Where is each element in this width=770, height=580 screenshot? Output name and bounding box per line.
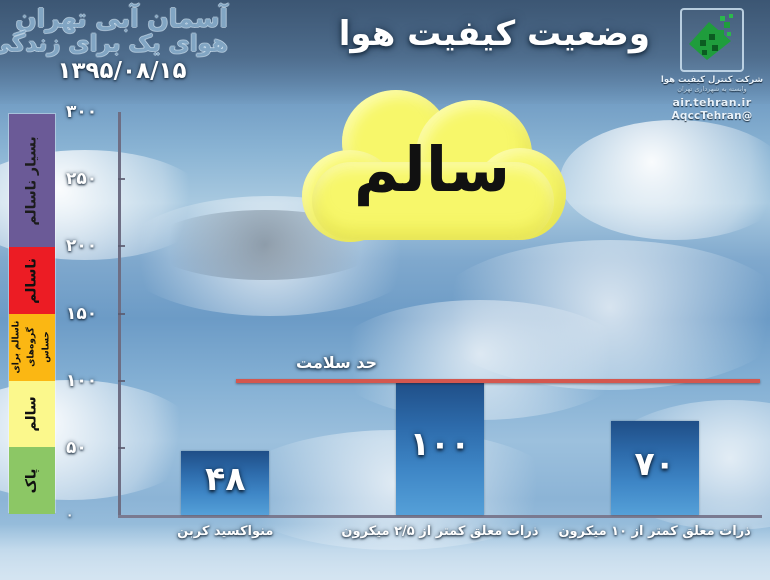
organization-block: شرکت کنترل کیفیت هوا وابسته به شهرداری ت… <box>660 8 764 123</box>
legend-segment: ناسالم برای گروه‌های حساس <box>9 314 55 381</box>
y-axis-tick-mark <box>118 313 125 315</box>
legend-segment: بسیار ناسالم <box>9 114 55 247</box>
report-date: ۱۳۹۵/۰۸/۱۵ <box>36 58 208 84</box>
bar: ۷۰ <box>611 421 699 515</box>
brand-logo-line1: آسمان آبی تهران <box>18 6 228 32</box>
y-axis-tick-mark <box>118 178 125 180</box>
org-name-line2: وابسته به شهرداری تهران <box>660 85 764 94</box>
y-axis-line <box>118 112 121 518</box>
legend-segment-label: بسیار ناسالم <box>25 136 40 225</box>
bar-value-label: ۷۰ <box>611 444 699 483</box>
bar-category-label: ذرات معلق کمتر از ۱۰ میکرون <box>547 524 762 539</box>
y-axis-tick-label: ۰ <box>66 508 114 522</box>
health-limit-label: حد سلامت <box>296 353 377 372</box>
aqi-legend: بسیار ناسالمناسالمناسالم برای گروه‌های ح… <box>8 113 56 513</box>
org-website[interactable]: air.tehran.ir <box>660 96 764 110</box>
legend-segment: پاک <box>9 447 55 514</box>
x-axis-line <box>118 515 762 518</box>
aqi-bar-chart: ۳۰۰۲۵۰۲۰۰۱۵۰۱۰۰۵۰۰ ۷۰ذرات معلق کمتر از ۱… <box>66 110 762 520</box>
bar-value-label: ۱۰۰ <box>396 424 484 463</box>
health-limit-line <box>236 379 760 383</box>
legend-segment-label: پاک <box>25 468 40 493</box>
legend-segment: سالم <box>9 381 55 448</box>
infographic-canvas: آسمان آبی تهران هوای یک برای زندگی ۱۳۹۵/… <box>0 0 770 580</box>
legend-segment-label: ناسالم <box>25 258 40 304</box>
bar: ۴۸ <box>181 451 269 515</box>
legend-segment-label: سالم <box>25 396 40 431</box>
y-axis-tick-label: ۲۰۰ <box>66 236 114 256</box>
page-title: وضعیت کیفیت هوا <box>339 14 650 54</box>
y-axis-tick-label: ۱۵۰ <box>66 304 114 324</box>
bar-category-label: منواکسید کربن <box>118 524 333 539</box>
y-axis-tick-mark <box>118 245 125 247</box>
org-name-line1: شرکت کنترل کیفیت هوا <box>660 75 764 85</box>
y-axis-tick-label: ۵۰ <box>66 438 114 458</box>
aqcc-logo-icon <box>680 8 744 72</box>
y-axis-tick-label: ۳۰۰ <box>66 102 114 122</box>
y-axis-tick-mark <box>118 447 125 449</box>
y-axis-tick-label: ۲۵۰ <box>66 169 114 189</box>
legend-segment: ناسالم <box>9 247 55 314</box>
bar-value-label: ۴۸ <box>181 459 269 498</box>
bar: ۱۰۰ <box>396 381 484 515</box>
bar-category-label: ذرات معلق کمتر از ۲/۵ میکرون <box>333 524 548 539</box>
legend-segment-label: ناسالم برای گروه‌های حساس <box>10 318 55 377</box>
brand-logo-line2: هوای یک برای زندگی <box>18 32 228 56</box>
y-axis-tick-label: ۱۰۰ <box>66 371 114 391</box>
y-axis-tick-mark <box>118 380 125 382</box>
